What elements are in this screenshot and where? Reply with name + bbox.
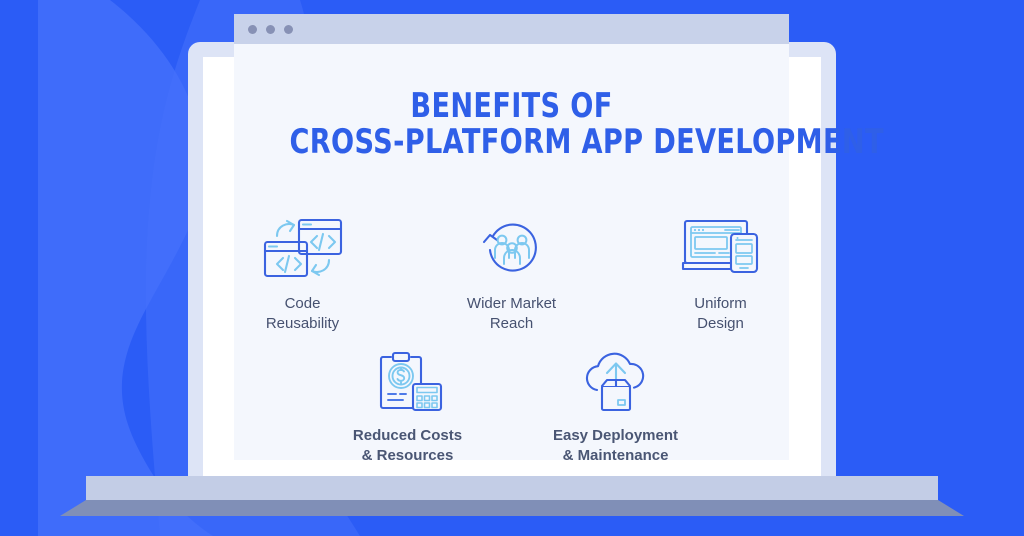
browser-window: BENEFITS OF CROSS-PLATFORM APP DEVELOPME… [234, 14, 789, 460]
slide-canvas: BENEFITS OF CROSS-PLATFORM APP DEVELOPME… [234, 44, 789, 460]
caption-line-2: Design [697, 315, 744, 332]
benefit-caption: Code Reusability [266, 294, 339, 334]
reduced-costs-icon [373, 350, 443, 414]
benefit-code-reusability: Code Reusability [234, 216, 371, 334]
code-reusability-icon [261, 216, 345, 280]
benefits-row-top: Code Reusability [234, 216, 789, 334]
benefit-uniform-design: Uniform Design [652, 216, 789, 334]
benefit-easy-deployment: Easy Deployment & Maintenance [531, 350, 701, 466]
benefit-caption: Easy Deployment & Maintenance [553, 426, 678, 466]
caption-line-1: Code [285, 295, 321, 312]
benefit-reduced-costs: Reduced Costs & Resources [323, 350, 493, 466]
slide-title: BENEFITS OF CROSS-PLATFORM APP DEVELOPME… [234, 88, 789, 161]
caption-line-2: Reusability [266, 315, 339, 332]
caption-line-1: Reduced Costs [353, 427, 462, 444]
wider-market-reach-icon [480, 216, 544, 280]
laptop-mockup: BENEFITS OF CROSS-PLATFORM APP DEVELOPME… [0, 0, 1024, 536]
browser-content: BENEFITS OF CROSS-PLATFORM APP DEVELOPME… [234, 44, 789, 460]
benefits-row-bottom: Reduced Costs & Resources [234, 350, 789, 466]
caption-line-1: Easy Deployment [553, 427, 678, 444]
caption-line-2: Reach [490, 315, 533, 332]
benefit-caption: Wider Market Reach [467, 294, 556, 334]
browser-titlebar [234, 14, 789, 44]
laptop-base-bottom [60, 500, 964, 516]
caption-line-1: Wider Market [467, 295, 556, 312]
benefit-caption: Reduced Costs & Resources [353, 426, 462, 466]
benefit-caption: Uniform Design [694, 294, 747, 334]
benefit-wider-market-reach: Wider Market Reach [443, 216, 580, 334]
title-line-2: CROSS-PLATFORM APP DEVELOPMENT [290, 124, 734, 160]
uniform-design-icon [681, 216, 761, 280]
caption-line-1: Uniform [694, 295, 747, 312]
window-maximize-dot-icon[interactable] [284, 25, 293, 34]
laptop-base-top [86, 476, 938, 500]
window-minimize-dot-icon[interactable] [266, 25, 275, 34]
caption-line-2: & Maintenance [563, 447, 669, 464]
window-close-dot-icon[interactable] [248, 25, 257, 34]
caption-line-2: & Resources [362, 447, 454, 464]
easy-deployment-icon [579, 350, 653, 414]
title-line-1: BENEFITS OF [290, 88, 734, 124]
